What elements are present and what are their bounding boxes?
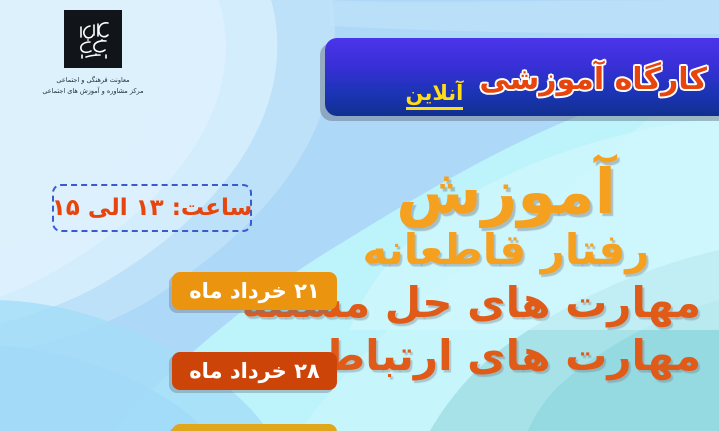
date-chip-2: ۲۸ خرداد ماه <box>172 352 337 390</box>
university-logo-block: معاونت فرهنگی و اجتماعی مرکز مشاوره و آم… <box>18 6 168 126</box>
logo-caption-line-2: مرکز مشاوره و آموزش های اجتماعی <box>18 86 168 97</box>
workshop-poster: معاونت فرهنگی و اجتماعی مرکز مشاوره و آم… <box>0 0 719 431</box>
time-label: ساعت: ۱۳ الی ۱۵ <box>52 195 253 221</box>
title-line-1: آموزش <box>311 160 701 223</box>
banner-online-label: آنلاین <box>406 81 464 110</box>
workshop-title-stack: آموزش رفتار قاطعانه مهارت های حل مسئله م… <box>311 160 701 378</box>
time-box: ساعت: ۱۳ الی ۱۵ <box>52 184 252 232</box>
banner-main-label: کارگاه آموزشی <box>479 62 707 97</box>
title-line-2: رفتار قاطعانه <box>311 229 701 272</box>
logo-caption-line-1: معاونت فرهنگی و اجتماعی <box>18 75 168 86</box>
date-chip-1: ۲۱ خرداد ماه <box>172 272 337 310</box>
title-line-3: مهارت های حل مسئله <box>311 282 701 325</box>
title-line-4: مهارت های ارتباطی <box>311 335 701 378</box>
university-emblem-icon <box>64 10 122 68</box>
date-chip-3: ۴ تیر ماه <box>172 424 337 431</box>
header-banner: کارگاه آموزشی آنلاین <box>325 38 719 116</box>
